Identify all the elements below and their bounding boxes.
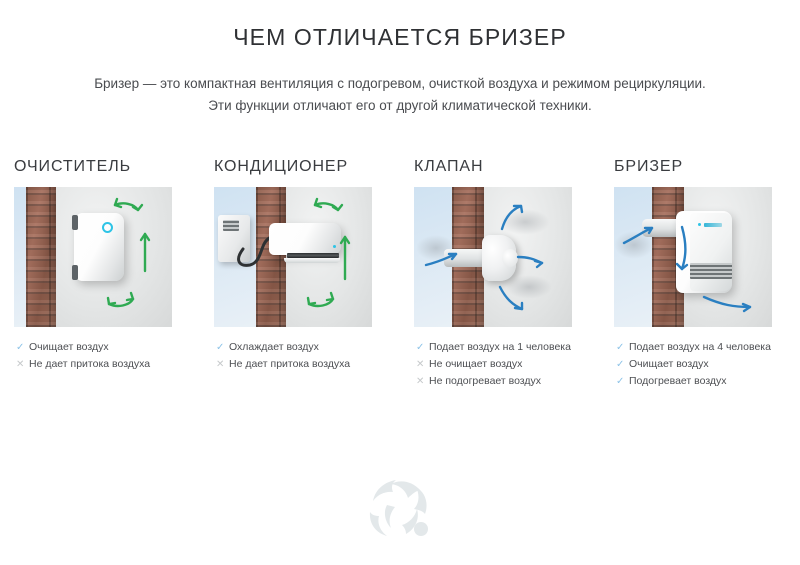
cross-icon: ✕ [216, 356, 229, 373]
feature-text: Подогревает воздух [629, 373, 727, 390]
feature-list-purifier: ✓ Очищает воздух ✕ Не дает притока возду… [16, 339, 200, 373]
feature-text: Не дает притока воздуха [29, 356, 150, 373]
list-item: ✕ Не очищает воздух [416, 356, 600, 373]
list-item: ✕ Не дает притока воздуха [16, 356, 200, 373]
feature-text: Очищает воздух [29, 339, 109, 356]
comparison-page: { "header": { "title": "ЧЕМ ОТЛИЧАЕТСЯ Б… [0, 0, 800, 565]
feature-text: Не дает притока воздуха [229, 356, 350, 373]
column-purifier: ОЧИСТИТЕЛЬ [0, 158, 200, 390]
intro-line-2: Эти функции отличают его от другой клима… [30, 95, 770, 117]
list-item: ✓ Подает воздух на 1 человека [416, 339, 600, 356]
recirculation-arrows [214, 187, 372, 327]
check-icon: ✓ [616, 356, 629, 373]
recirculation-arrows [14, 187, 172, 327]
list-item: ✓ Очищает воздух [616, 356, 800, 373]
feature-list-air-conditioner: ✓ Охлаждает воздух ✕ Не дает притока воз… [216, 339, 400, 373]
check-icon: ✓ [16, 339, 29, 356]
airflow-arrows [414, 187, 572, 327]
cross-icon: ✕ [416, 373, 429, 390]
column-air-conditioner: КОНДИЦИОНЕР [200, 158, 400, 390]
breezer-illustration [614, 187, 772, 327]
column-title-purifier: ОЧИСТИТЕЛЬ [14, 158, 200, 176]
column-breezer: БРИЗЕР [600, 158, 800, 390]
feature-text: Очищает воздух [629, 356, 709, 373]
airflow-arrows [614, 187, 772, 327]
list-item: ✓ Очищает воздух [16, 339, 200, 356]
feature-text: Подает воздух на 4 человека [629, 339, 771, 356]
column-title-air-conditioner: КОНДИЦИОНЕР [214, 158, 400, 176]
cross-icon: ✕ [16, 356, 29, 373]
feature-text: Подает воздух на 1 человека [429, 339, 571, 356]
feature-list-wall-valve: ✓ Подает воздух на 1 человека ✕ Не очища… [416, 339, 600, 390]
list-item: ✓ Подогревает воздух [616, 373, 800, 390]
feature-text: Охлаждает воздух [229, 339, 319, 356]
page-title: ЧЕМ ОТЛИЧАЕТСЯ БРИЗЕР [0, 0, 800, 51]
air-conditioner-illustration [214, 187, 372, 327]
intro-line-1: Бризер — это компактная вентиляция с под… [30, 73, 770, 95]
comparison-columns: ОЧИСТИТЕЛЬ [0, 158, 800, 390]
feature-text: Не очищает воздух [429, 356, 522, 373]
list-item: ✓ Подает воздух на 4 человека [616, 339, 800, 356]
feature-list-breezer: ✓ Подает воздух на 4 человека ✓ Очищает … [616, 339, 800, 390]
check-icon: ✓ [216, 339, 229, 356]
air-purifier-illustration [14, 187, 172, 327]
column-title-breezer: БРИЗЕР [614, 158, 800, 176]
list-item: ✕ Не подогревает воздух [416, 373, 600, 390]
column-title-wall-valve: КЛАПАН [414, 158, 600, 176]
check-icon: ✓ [616, 373, 629, 390]
wall-valve-illustration [414, 187, 572, 327]
check-icon: ✓ [416, 339, 429, 356]
cross-icon: ✕ [416, 356, 429, 373]
feature-text: Не подогревает воздух [429, 373, 541, 390]
fan-swirl-logo [362, 474, 438, 540]
list-item: ✕ Не дает притока воздуха [216, 356, 400, 373]
list-item: ✓ Охлаждает воздух [216, 339, 400, 356]
check-icon: ✓ [616, 339, 629, 356]
intro-paragraph: Бризер — это компактная вентиляция с под… [30, 73, 770, 117]
column-wall-valve: КЛАПАН [400, 158, 600, 390]
